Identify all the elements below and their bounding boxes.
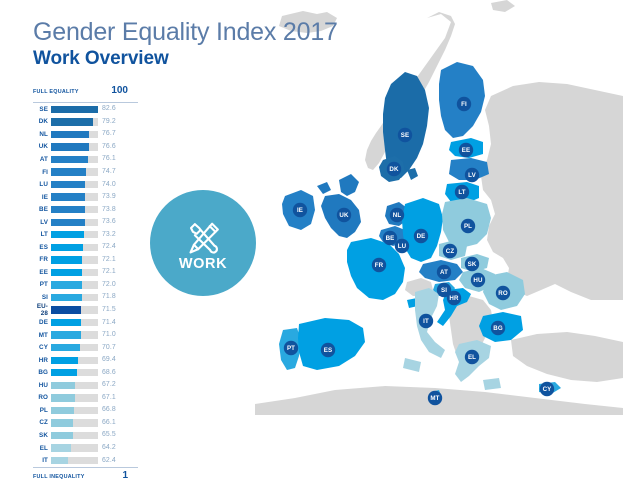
bar-fill (51, 457, 68, 464)
map-badge-MT: MT (428, 391, 442, 405)
bar-row: MT71.0 (33, 329, 138, 342)
work-domain-badge: WORK (150, 190, 256, 296)
country-code: CY (33, 344, 51, 351)
badge-label: CZ (446, 248, 455, 255)
index-value: 70.7 (98, 344, 116, 352)
bar-fill (51, 168, 86, 175)
bar-track (51, 357, 98, 364)
bar-fill (51, 369, 77, 376)
bar-row: FI74.7 (33, 166, 138, 179)
bar-row: EU-2871.5 (33, 304, 138, 317)
map-badge-SK: SK (465, 257, 479, 271)
bar-fill (51, 156, 88, 163)
map-badge-BG: BG (491, 321, 505, 335)
badge-label: EE (462, 147, 470, 154)
bar-row: CY70.7 (33, 341, 138, 354)
bar-track (51, 382, 98, 389)
map-badge-ES: ES (321, 343, 335, 357)
map-badge-EL: EL (465, 350, 479, 364)
country-code: SE (33, 106, 51, 113)
bar-track (51, 444, 98, 451)
bar-fill (51, 219, 85, 226)
badge-label: DE (417, 233, 426, 240)
country-code: EU-28 (33, 303, 51, 317)
bar-track (51, 256, 98, 263)
index-value: 71.4 (98, 319, 116, 327)
country-code: BE (33, 206, 51, 213)
bar-fill (51, 319, 81, 326)
index-value: 72.1 (98, 268, 116, 276)
bar-row: IE73.9 (33, 191, 138, 204)
country-code: BG (33, 369, 51, 376)
bar-row: SK65.5 (33, 429, 138, 442)
bar-track (51, 319, 98, 326)
country-code: AT (33, 156, 51, 163)
bar-fill (51, 131, 89, 138)
bar-row: LU74.0 (33, 178, 138, 191)
map-badge-CY: CY (540, 382, 554, 396)
bar-row: NL76.7 (33, 128, 138, 141)
bar-row: BG68.6 (33, 366, 138, 379)
bar-fill (51, 306, 81, 313)
map-badge-DE: DE (414, 229, 428, 243)
bar-fill (51, 331, 81, 338)
map-badge-CZ: CZ (443, 244, 457, 258)
bar-track (51, 344, 98, 351)
bar-track (51, 156, 98, 163)
index-value: 71.0 (98, 331, 116, 339)
badge-label: IE (297, 207, 303, 214)
country-code: HR (33, 357, 51, 364)
bar-track (51, 457, 98, 464)
badge-label: UK (339, 212, 349, 219)
map-badge-LT: LT (455, 185, 469, 199)
index-value: 74.7 (98, 168, 116, 176)
map-badge-DK: DK (387, 162, 401, 176)
index-value: 71.8 (98, 293, 116, 301)
index-value: 69.4 (98, 356, 116, 364)
index-value: 76.1 (98, 155, 116, 163)
bar-row: LT73.2 (33, 228, 138, 241)
country-code: SI (33, 294, 51, 301)
full-equality-caption: FULL EQUALITY 100 (33, 86, 138, 99)
badge-label: FI (461, 101, 467, 108)
country-code: LU (33, 181, 51, 188)
badge-label: HU (473, 277, 483, 284)
bar-track (51, 432, 98, 439)
map-badge-FI: FI (457, 97, 471, 111)
country-code: FR (33, 256, 51, 263)
bar-track (51, 419, 98, 426)
index-value: 72.0 (98, 281, 116, 289)
full-inequality-caption: FULL INEQUALITY 1 (33, 471, 138, 484)
badge-label: SK (468, 261, 477, 268)
country-code: LT (33, 231, 51, 238)
bar-row: RO67.1 (33, 392, 138, 405)
bar-fill (51, 419, 73, 426)
bar-row: DK79.2 (33, 116, 138, 129)
map-badge-PT: PT (284, 341, 298, 355)
map-badge-LV: LV (465, 168, 479, 182)
bar-track (51, 294, 98, 301)
bar-rows: SE82.6DK79.2NL76.7UK76.6AT76.1FI74.7LU74… (33, 103, 138, 467)
bar-fill (51, 269, 82, 276)
country-code: RO (33, 394, 51, 401)
bar-row: DE71.4 (33, 316, 138, 329)
map-badge-IE: IE (293, 203, 307, 217)
badge-label: PT (287, 345, 295, 352)
bar-track (51, 106, 98, 113)
country-code: ES (33, 244, 51, 251)
bar-track (51, 281, 98, 288)
badge-label: LU (398, 243, 407, 250)
bar-fill (51, 106, 98, 113)
page-title: Gender Equality Index 2017 (33, 18, 338, 46)
bar-fill (51, 244, 83, 251)
badge-label: SE (401, 132, 409, 139)
index-value: 72.1 (98, 256, 116, 264)
index-value: 66.8 (98, 406, 116, 414)
map-badge-LU: LU (395, 239, 409, 253)
full-inequality-label: FULL INEQUALITY (33, 474, 85, 480)
map-badge-HU: HU (471, 273, 485, 287)
bar-row: LV73.6 (33, 216, 138, 229)
country-code: HU (33, 382, 51, 389)
index-value: 67.1 (98, 394, 116, 402)
bar-row: BE73.8 (33, 203, 138, 216)
full-equality-label: FULL EQUALITY (33, 89, 79, 95)
bar-row: AT76.1 (33, 153, 138, 166)
map-badge-BE: BE (383, 231, 397, 245)
bar-row: PT72.0 (33, 279, 138, 292)
badge-label: HR (449, 295, 459, 302)
bar-row: FR72.1 (33, 254, 138, 267)
bar-row: HR69.4 (33, 354, 138, 367)
bar-fill (51, 357, 78, 364)
index-value: 71.5 (98, 306, 116, 314)
bar-track (51, 193, 98, 200)
badge-label: LT (458, 189, 465, 196)
country-code: IT (33, 457, 51, 464)
bar-fill (51, 294, 82, 301)
page-header: Gender Equality Index 2017 Work Overview (33, 18, 338, 71)
index-value: 62.4 (98, 457, 116, 465)
country-code: LV (33, 219, 51, 226)
badge-label: AT (440, 269, 448, 276)
bar-row: IT62.4 (33, 454, 138, 467)
country-code: NL (33, 131, 51, 138)
bar-row: HU67.2 (33, 379, 138, 392)
index-value: 72.4 (98, 243, 116, 251)
bar-fill (51, 281, 82, 288)
bar-track (51, 118, 98, 125)
bar-track (51, 306, 98, 313)
map-badge-IT: IT (419, 314, 433, 328)
badge-label: LV (468, 172, 476, 179)
bar-fill (51, 193, 85, 200)
bar-fill (51, 231, 84, 238)
badge-label: MT (430, 395, 439, 402)
page-subtitle: Work Overview (33, 47, 338, 71)
country-code: SK (33, 432, 51, 439)
badge-label: NL (393, 212, 402, 219)
bar-track (51, 181, 98, 188)
work-badge-label: WORK (150, 256, 256, 272)
index-value: 66.1 (98, 419, 116, 427)
bar-track (51, 131, 98, 138)
bar-fill (51, 206, 85, 213)
bar-row: SI71.8 (33, 291, 138, 304)
country-code: MT (33, 332, 51, 339)
badge-label: RO (498, 290, 508, 297)
index-value: 67.2 (98, 381, 116, 389)
bar-fill (51, 407, 74, 414)
country-code: PT (33, 281, 51, 288)
bar-row: CZ66.1 (33, 417, 138, 430)
map-badge-PL: PL (461, 219, 475, 233)
badge-label: ES (324, 347, 332, 354)
bar-row: EL64.2 (33, 442, 138, 455)
badge-label: IT (423, 318, 429, 325)
badge-label: DK (389, 166, 399, 173)
map-badge-HR: HR (447, 291, 461, 305)
country-code: DE (33, 319, 51, 326)
index-value: 65.5 (98, 431, 116, 439)
country-code: UK (33, 143, 51, 150)
bar-row: ES72.4 (33, 241, 138, 254)
bar-row: SE82.6 (33, 103, 138, 116)
index-value: 79.2 (98, 118, 116, 126)
country-index-bar-chart: FULL EQUALITY 100 SE82.6DK79.2NL76.7UK76… (33, 86, 138, 484)
badge-label: EL (468, 354, 476, 361)
badge-label: BE (386, 235, 395, 242)
index-value: 76.6 (98, 143, 116, 151)
index-value: 64.2 (98, 444, 116, 452)
bar-row: UK76.6 (33, 141, 138, 154)
index-value: 73.9 (98, 193, 116, 201)
index-value: 74.0 (98, 181, 116, 189)
map-badge-NL: NL (390, 208, 404, 222)
bar-track (51, 394, 98, 401)
map-badge-RO: RO (496, 286, 510, 300)
index-value: 82.6 (98, 105, 116, 113)
badge-label: BG (493, 325, 503, 332)
bar-track (51, 369, 98, 376)
country-code: IE (33, 194, 51, 201)
bar-fill (51, 181, 85, 188)
bar-track (51, 168, 98, 175)
map-badge-EE: EE (459, 143, 473, 157)
scale-rule-bottom (33, 467, 138, 468)
country-code: CZ (33, 419, 51, 426)
full-inequality-value: 1 (122, 471, 138, 481)
index-value: 73.2 (98, 231, 116, 239)
badge-label: SI (441, 287, 447, 294)
bar-row: EE72.1 (33, 266, 138, 279)
map-badge-AT: AT (437, 265, 451, 279)
badge-label: FR (375, 262, 384, 269)
bar-fill (51, 382, 75, 389)
bar-fill (51, 432, 73, 439)
badge-label: CY (543, 386, 553, 393)
bar-track (51, 331, 98, 338)
bar-track (51, 143, 98, 150)
country-code: EE (33, 269, 51, 276)
country-code: DK (33, 118, 51, 125)
index-value: 68.6 (98, 369, 116, 377)
bar-fill (51, 143, 89, 150)
bar-fill (51, 118, 93, 125)
map-badge-SE: SE (398, 128, 412, 142)
full-equality-value: 100 (111, 86, 138, 96)
bar-track (51, 269, 98, 276)
country-code: EL (33, 445, 51, 452)
bar-track (51, 407, 98, 414)
country-code: FI (33, 169, 51, 176)
bar-track (51, 206, 98, 213)
bar-fill (51, 256, 82, 263)
index-value: 76.7 (98, 130, 116, 138)
map-badge-UK: UK (337, 208, 351, 222)
index-value: 73.8 (98, 206, 116, 214)
index-value: 73.6 (98, 218, 116, 226)
badge-label: PL (464, 223, 472, 230)
bar-track (51, 244, 98, 251)
map-badge-FR: FR (372, 258, 386, 272)
bar-fill (51, 344, 80, 351)
bar-fill (51, 444, 71, 451)
bar-track (51, 219, 98, 226)
country-code: PL (33, 407, 51, 414)
bar-track (51, 231, 98, 238)
bar-fill (51, 394, 75, 401)
